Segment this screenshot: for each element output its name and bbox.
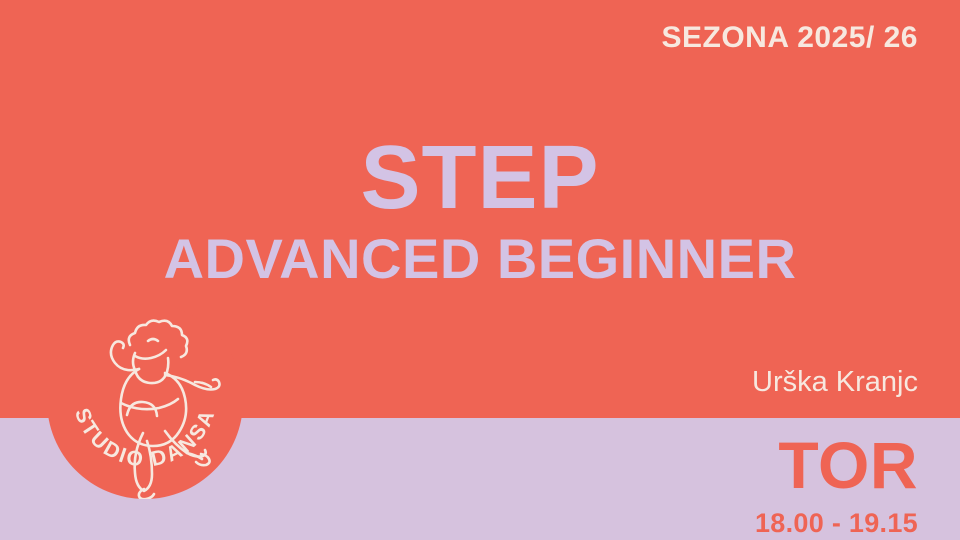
class-schedule-poster: SEZONA 2025/ 26 STEP ADVANCED BEGINNER U… bbox=[0, 0, 960, 540]
class-level-subtitle: ADVANCED BEGINNER bbox=[0, 230, 960, 289]
studio-logo-badge: STUDIO DANSA bbox=[47, 303, 243, 499]
instructor-name: Urška Kranjc bbox=[752, 368, 918, 397]
schedule-block: TOR 18.00 - 19.15 bbox=[755, 432, 918, 537]
season-label: SEZONA 2025/ 26 bbox=[661, 23, 918, 53]
class-title-block: STEP ADVANCED BEGINNER bbox=[0, 132, 960, 288]
studio-dansa-logo-icon: STUDIO DANSA bbox=[47, 303, 243, 499]
schedule-time: 18.00 - 19.15 bbox=[755, 510, 918, 537]
schedule-day: TOR bbox=[755, 432, 918, 498]
class-name-primary: STEP bbox=[0, 132, 960, 226]
